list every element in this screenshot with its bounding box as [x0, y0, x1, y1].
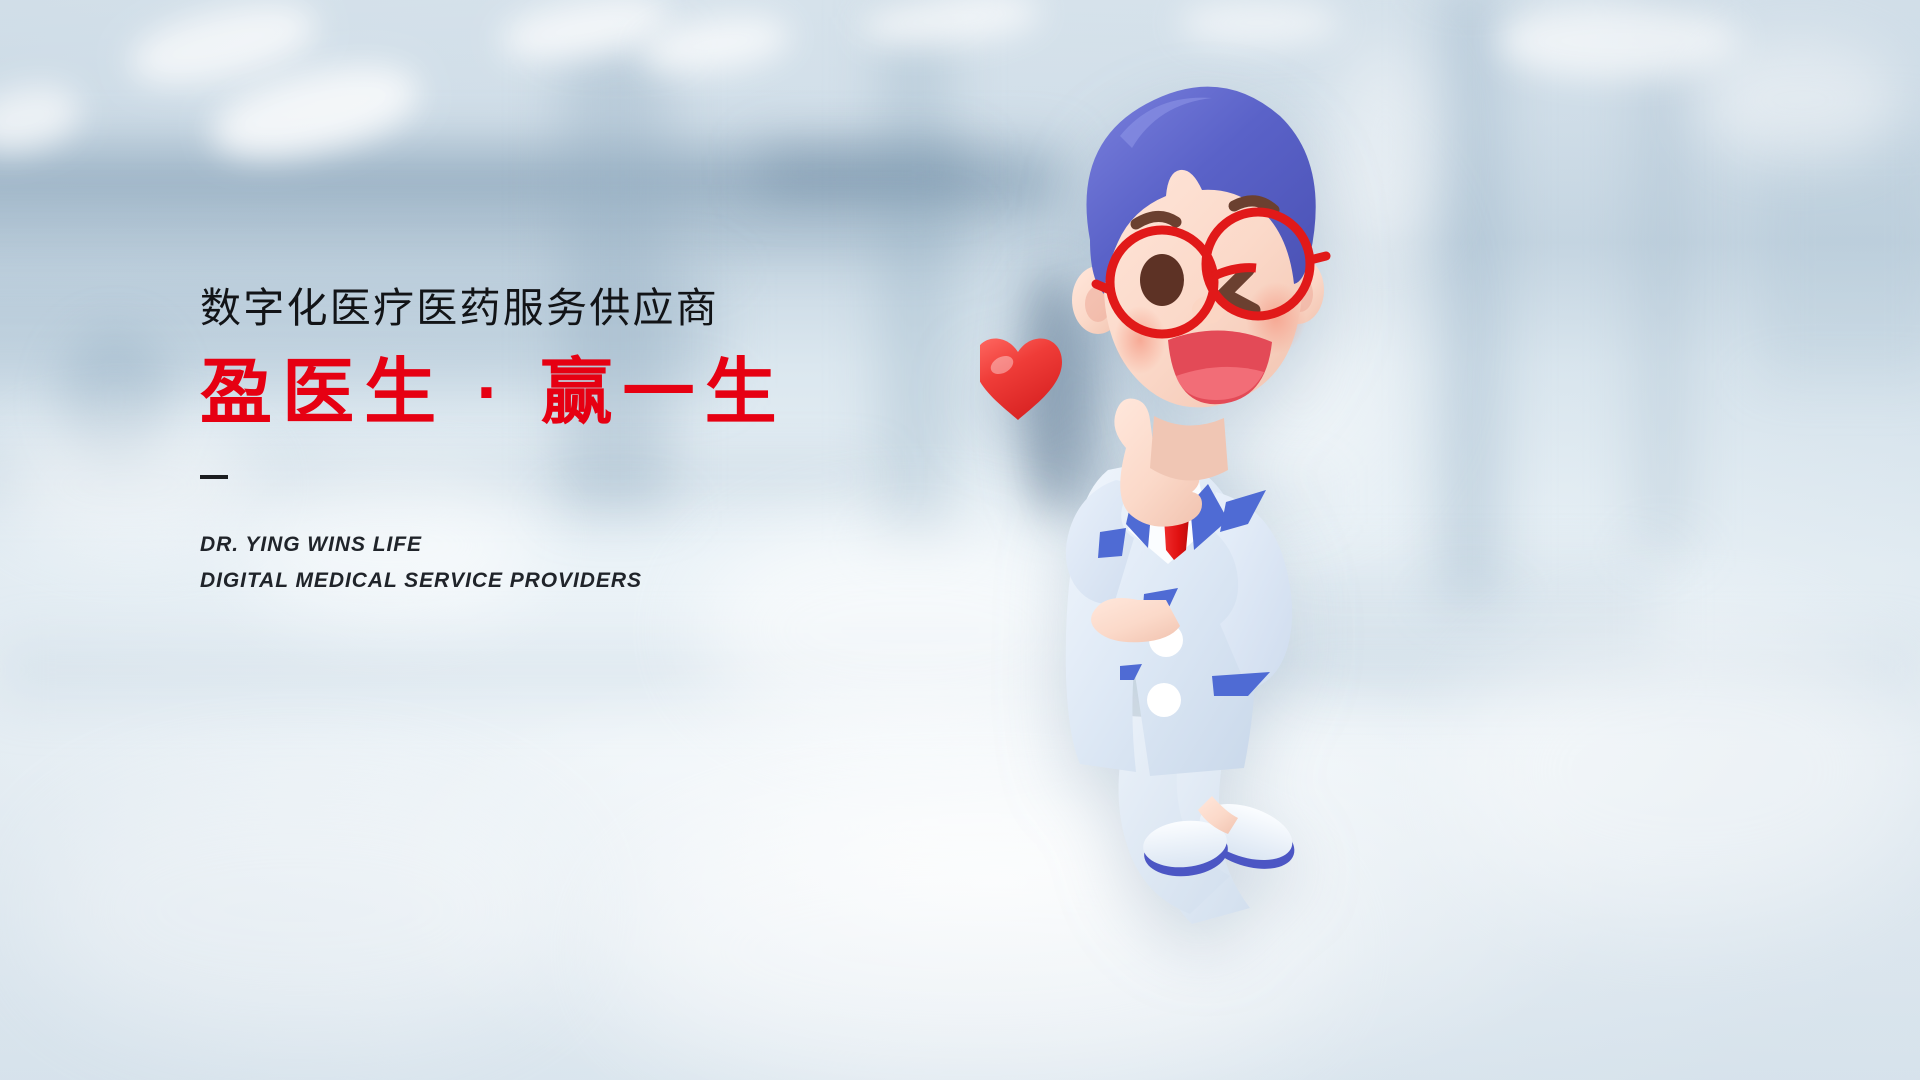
subheading-chinese: 数字化医疗医药服务供应商 [200, 288, 960, 329]
english-tagline-line-1: DR. YING WINS LIFE [200, 527, 960, 563]
mascot-head [1072, 87, 1326, 408]
mascot-lower-hand [1091, 598, 1180, 642]
doctor-mascot-illustration [980, 40, 1400, 1040]
english-tagline-line-2: DIGITAL MEDICAL SERVICE PROVIDERS [200, 563, 960, 599]
banner-stage: 数字化医疗医药服务供应商 盈医生 · 赢一生 DR. YING WINS LIF… [0, 0, 1920, 1080]
mascot-open-eye [1140, 254, 1184, 306]
mascot-neck [1150, 416, 1228, 481]
banner-copy: 数字化医疗医药服务供应商 盈医生 · 赢一生 DR. YING WINS LIF… [200, 288, 960, 599]
glasses-temple-left [1096, 284, 1110, 290]
glasses-temple-right [1310, 256, 1326, 260]
divider-rule [200, 475, 228, 479]
coat-button-lower [1147, 683, 1181, 717]
english-tagline-block: DR. YING WINS LIFE DIGITAL MEDICAL SERVI… [200, 527, 960, 599]
headline-chinese: 盈医生 · 赢一生 [200, 357, 960, 429]
red-heart [980, 339, 1062, 420]
